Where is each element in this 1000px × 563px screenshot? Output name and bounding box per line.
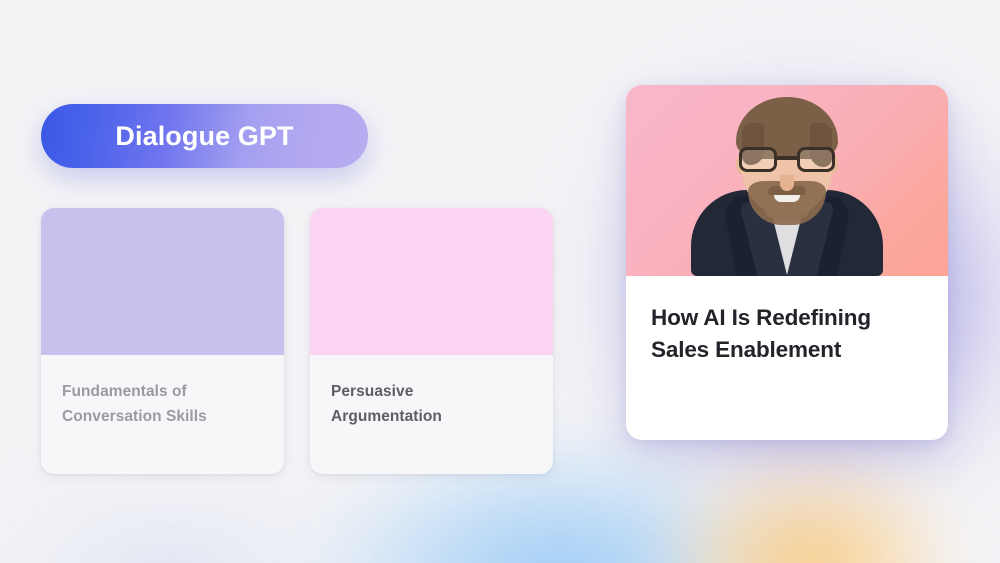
course-card-persuasive[interactable]: Persuasive Argumentation <box>310 208 553 474</box>
featured-article-title: How AI Is Redefining Sales Enablement <box>651 302 923 366</box>
bottom-left-glow <box>0 470 380 563</box>
glasses-lens-right <box>797 147 835 172</box>
dialogue-gpt-badge[interactable]: Dialogue GPT <box>41 104 368 168</box>
course-card-title: Fundamentals of Conversation Skills <box>62 379 263 429</box>
featured-article-body: How AI Is Redefining Sales Enablement <box>626 276 948 440</box>
course-card-title: Persuasive Argumentation <box>331 379 532 429</box>
glasses-bridge <box>777 156 797 160</box>
course-card-body: Persuasive Argumentation <box>310 355 553 474</box>
glasses-lens-left <box>739 147 777 172</box>
amber-glow <box>660 440 960 563</box>
person-portrait-illustration <box>682 85 892 276</box>
course-card-body: Fundamentals of Conversation Skills <box>41 355 284 474</box>
course-card-fundamentals[interactable]: Fundamentals of Conversation Skills <box>41 208 284 474</box>
nose-shape <box>780 175 794 191</box>
course-thumbnail <box>310 208 553 355</box>
featured-article-photo <box>626 85 948 276</box>
course-thumbnail <box>41 208 284 355</box>
page-background: Dialogue GPT Fundamentals of Conversatio… <box>0 0 1000 563</box>
glasses-icon <box>739 147 835 173</box>
dialogue-gpt-badge-label: Dialogue GPT <box>115 123 293 150</box>
featured-article-card[interactable]: How AI Is Redefining Sales Enablement <box>626 85 948 440</box>
